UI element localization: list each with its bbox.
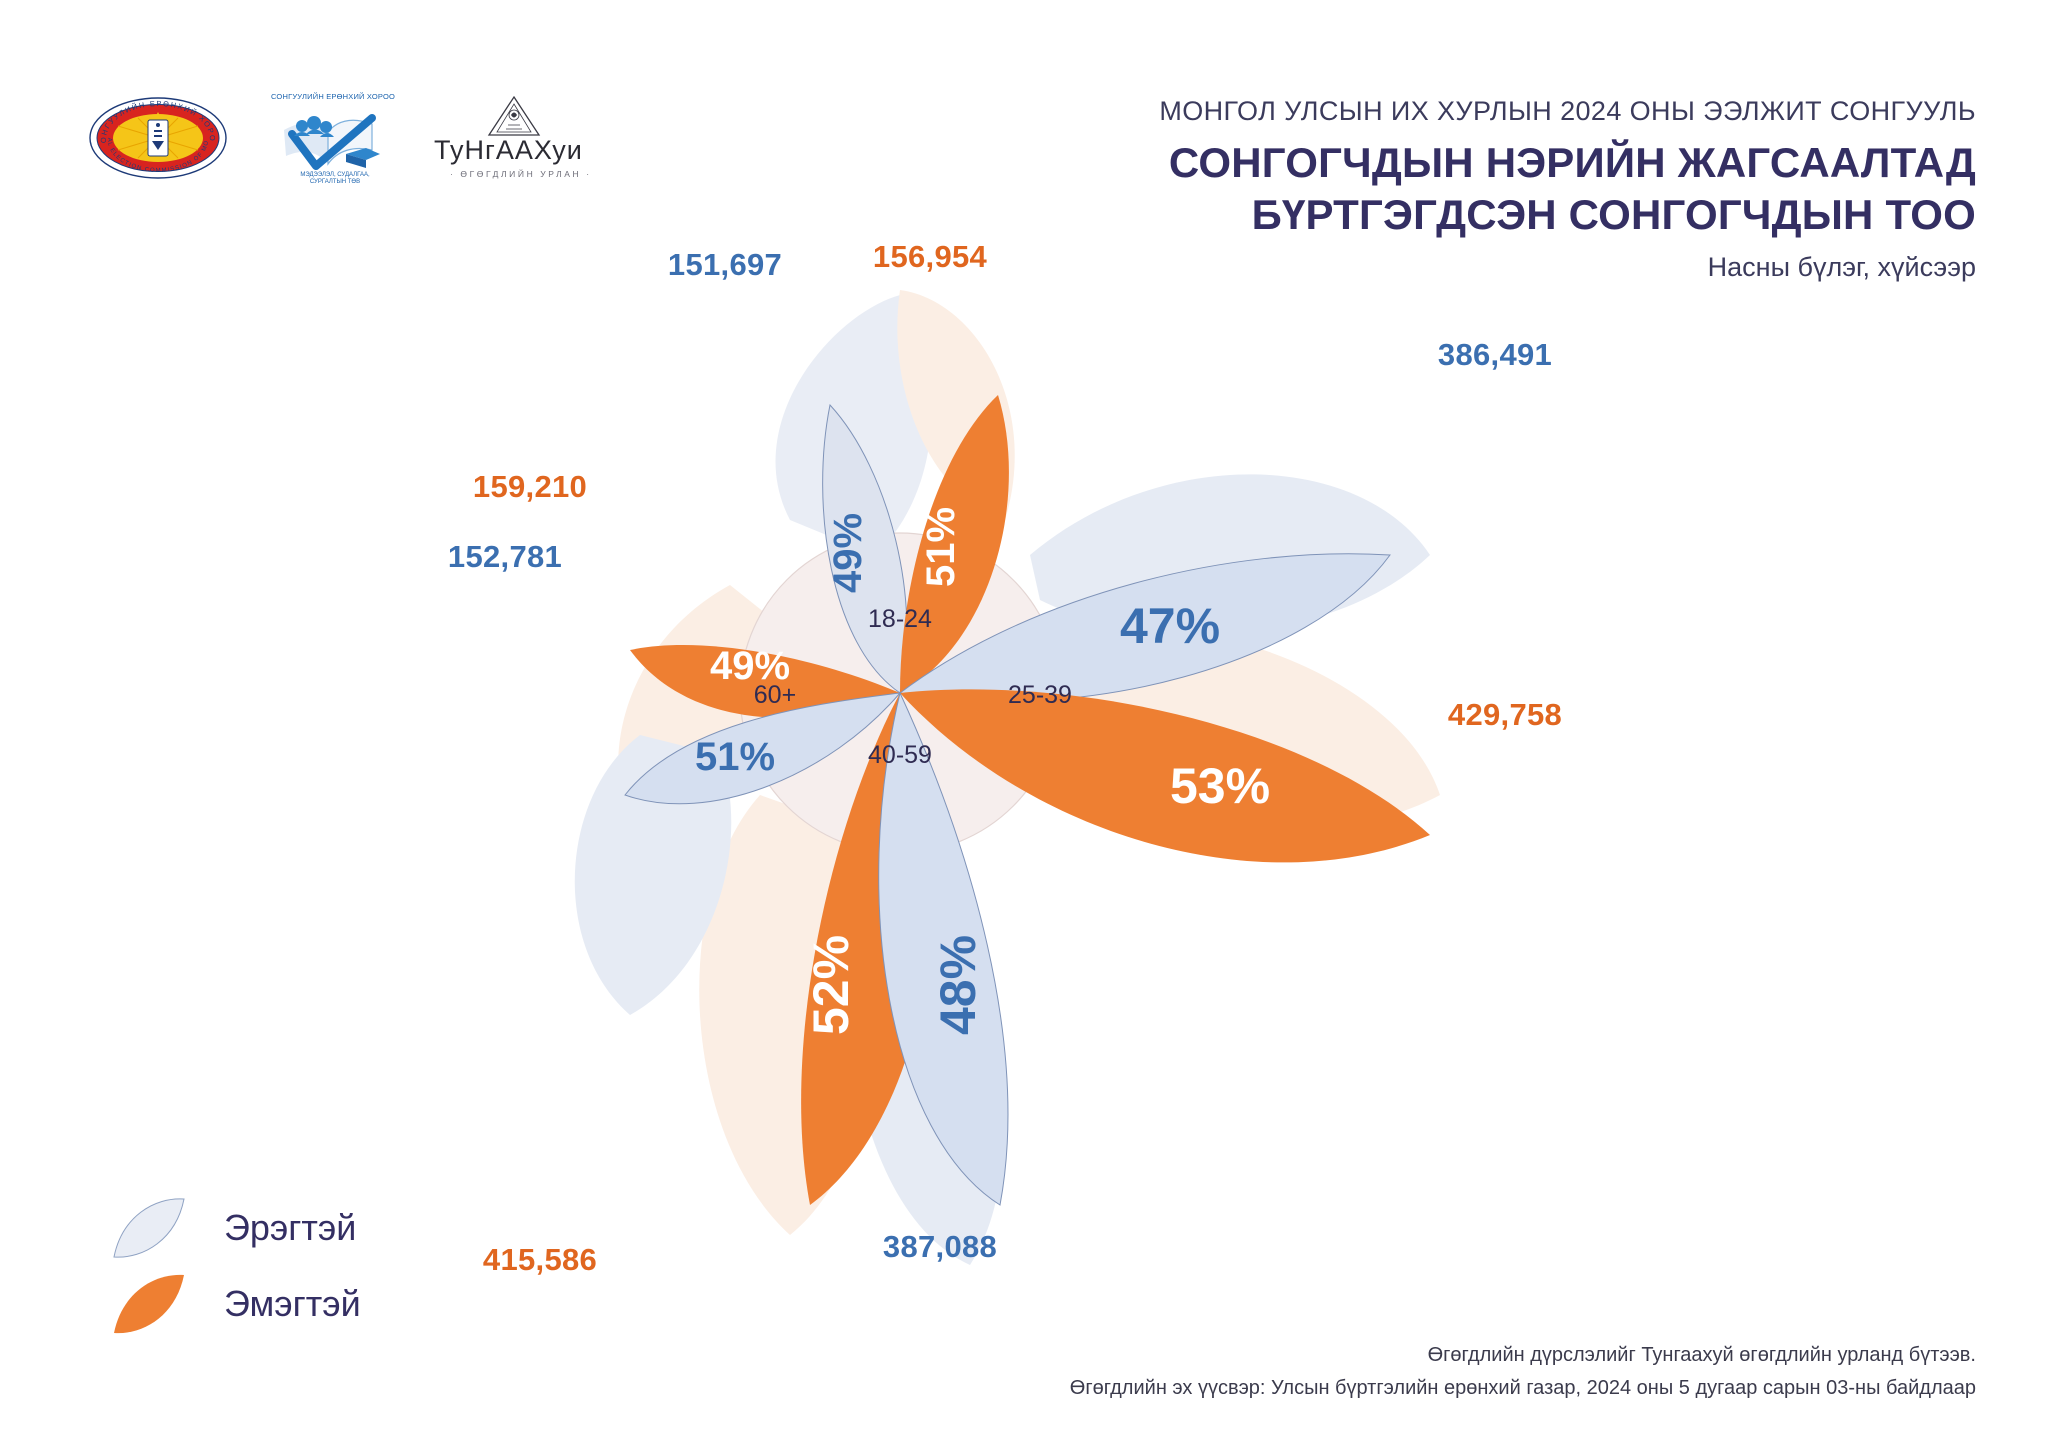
source-footer: Өгөгдлийн дүрслэлийг Тунгаахуй өгөгдлийн… — [1070, 1339, 1976, 1404]
page-title-line2: БҮРТГЭГДСЭН СОНГОГЧДЫН ТОО — [1159, 189, 1976, 241]
book-checkmark-icon — [276, 104, 386, 174]
value-male-18-24: 151,697 — [668, 247, 782, 282]
edu-logo-caption: СОНГУУЛИЙН ЕРӨНХИЙ ХОРОО — [258, 92, 408, 101]
pct-male-18-24: 49% — [826, 513, 870, 593]
voter-flower-chart: 49% 51% 18-24 47% 53% 25-39 52% 48% 40-5… — [430, 255, 1590, 1315]
value-female-18-24: 156,954 — [873, 239, 988, 274]
triangle-emblem-icon — [484, 93, 544, 139]
pct-male-40-59: 48% — [930, 935, 986, 1035]
value-female-40-59: 415,586 — [483, 1242, 597, 1277]
edu-logo-footer: МЭДЭЭЛЭЛ, СУДАЛГАА, СУРГАЛТЫН ТӨВ — [292, 172, 378, 186]
age-label-60plus: 60+ — [754, 681, 796, 709]
pct-female-40-59: 52% — [803, 935, 859, 1035]
legend-label-female: Эмэгтэй — [224, 1283, 361, 1325]
chart-legend: Эрэгтэй Эмэгтэй — [110, 1190, 361, 1342]
legend-petal-female-icon — [110, 1271, 188, 1337]
tungaakhui-studio-logo: ТуНгААХуи · ӨГӨГДЛИЙН УРЛАН · — [434, 93, 614, 183]
election-commission-seal-logo: СОНГУУЛИЙН ЕРӨНХИЙ ХОРОО GENERAL ELECTIO… — [88, 96, 228, 180]
value-male-60plus: 152,781 — [448, 539, 562, 574]
studio-wordmark: ТуНгААХуи — [434, 135, 583, 166]
value-female-25-39: 429,758 — [1448, 697, 1562, 732]
value-male-25-39: 386,491 — [1438, 337, 1552, 372]
education-research-center-logo: СОНГУУЛИЙН ЕРӨНХИЙ ХОРОО МЭДЭЭЛЭЛ, СУДАЛ… — [276, 92, 386, 184]
infographic-page: СОНГУУЛИЙН ЕРӨНХИЙ ХОРОО GENERAL ELECTIO… — [0, 0, 2048, 1448]
age-label-25-39: 25-39 — [1008, 681, 1072, 709]
pct-female-18-24: 51% — [919, 507, 963, 587]
pct-male-25-39: 47% — [1120, 598, 1220, 654]
flower-chart-svg: 49% 51% 18-24 47% 53% 25-39 52% 48% 40-5… — [430, 255, 1590, 1315]
value-female-60plus: 159,210 — [473, 469, 587, 504]
pct-female-25-39: 53% — [1170, 758, 1270, 814]
page-title-line1: СОНГОГЧДЫН НЭРИЙН ЖАГСААЛТАД — [1159, 137, 1976, 189]
seal-icon: СОНГУУЛИЙН ЕРӨНХИЙ ХОРОО GENERAL ELECTIO… — [88, 96, 228, 180]
value-male-40-59: 387,088 — [883, 1229, 997, 1264]
studio-tagline: · ӨГӨГДЛИЙН УРЛАН · — [450, 169, 592, 179]
legend-item-female[interactable]: Эмэгтэй — [110, 1266, 361, 1342]
kicker-text: МОНГОЛ УЛСЫН ИХ ХУРЛЫН 2024 ОНЫ ЭЭЛЖИТ С… — [1159, 96, 1976, 127]
age-label-40-59: 40-59 — [868, 741, 932, 769]
legend-label-male: Эрэгтэй — [224, 1207, 356, 1249]
footer-line-credit: Өгөгдлийн дүрслэлийг Тунгаахуй өгөгдлийн… — [1070, 1339, 1976, 1371]
legend-petal-male-icon — [110, 1195, 188, 1261]
logo-bar: СОНГУУЛИЙН ЕРӨНХИЙ ХОРОО GENERAL ELECTIO… — [88, 92, 614, 184]
age-label-18-24: 18-24 — [868, 605, 932, 633]
pct-male-60plus: 51% — [695, 735, 775, 779]
footer-line-source: Өгөгдлийн эх үүсвэр: Улсын бүртгэлийн ер… — [1070, 1372, 1976, 1404]
legend-item-male[interactable]: Эрэгтэй — [110, 1190, 361, 1266]
